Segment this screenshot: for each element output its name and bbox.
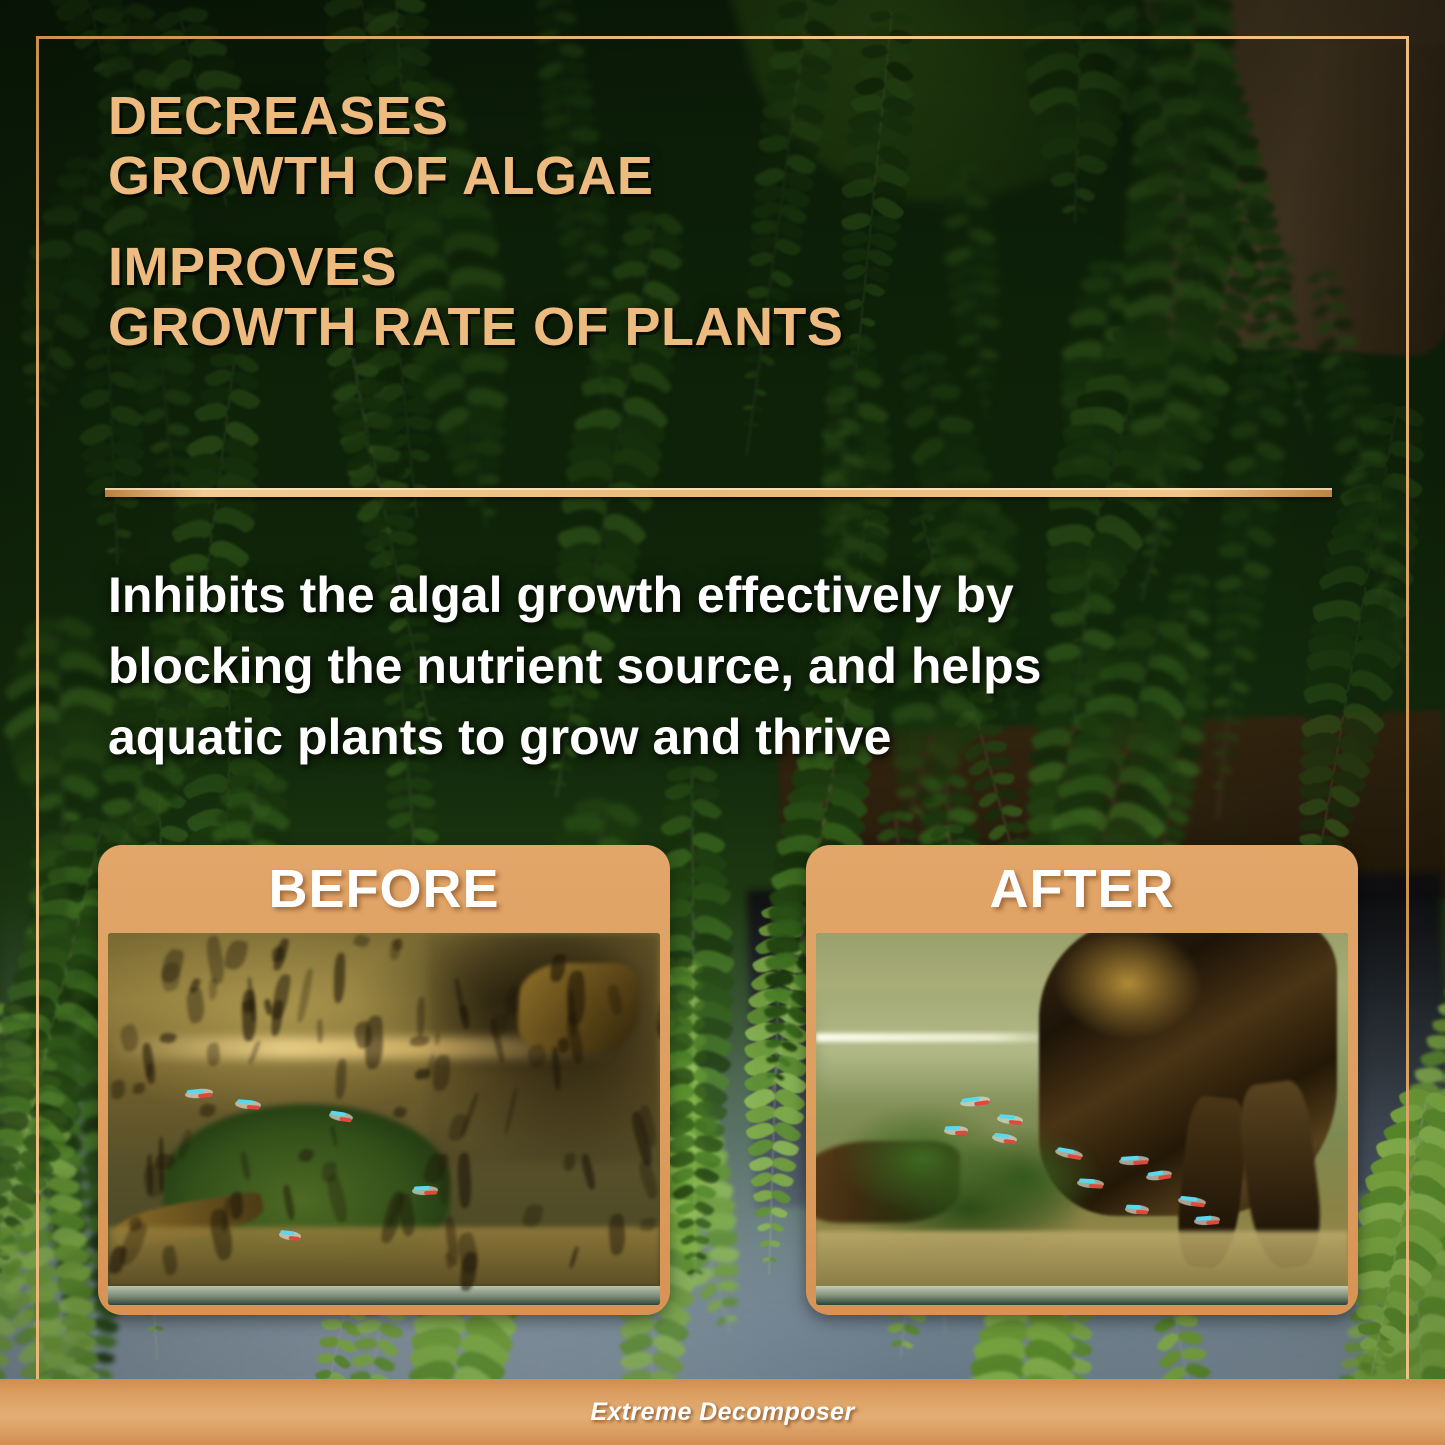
neon-tetra-fish <box>235 1099 262 1110</box>
after-tank-rim <box>816 1286 1348 1305</box>
description-line-1: Inhibits the algal growth effectively by <box>108 560 1288 631</box>
after-sand-substrate <box>816 1231 1348 1287</box>
algae-streak <box>416 997 425 1038</box>
before-card-title: BEFORE <box>108 845 660 933</box>
after-photo-layers <box>816 933 1348 1305</box>
headline-block-plants: IMPROVES GROWTH RATE OF PLANTS <box>108 237 1168 358</box>
neon-tetra-fish <box>185 1088 214 1100</box>
algae-streak <box>147 1063 152 1078</box>
headline-line-2: GROWTH OF ALGAE <box>108 146 1168 206</box>
algae-streak <box>272 937 289 971</box>
before-photo-layers <box>108 933 660 1305</box>
algae-streak <box>564 1153 575 1172</box>
algae-streak <box>334 953 345 1003</box>
algae-streak <box>392 1105 407 1119</box>
after-card: AFTER <box>806 845 1358 1315</box>
fish-red-stripe <box>289 1235 300 1240</box>
fish-red-stripe <box>1206 1219 1219 1224</box>
before-photo <box>108 933 660 1305</box>
headline-line-1: DECREASES <box>108 86 1168 146</box>
poster-content: DECREASES GROWTH OF ALGAE IMPROVES GROWT… <box>0 0 1445 1445</box>
headline-group: DECREASES GROWTH OF ALGAE IMPROVES GROWT… <box>108 86 1168 358</box>
before-tank-rim <box>108 1286 660 1305</box>
neon-tetra-fish <box>1193 1215 1220 1226</box>
after-light-reflection <box>816 1033 1071 1042</box>
algae-streak <box>636 1159 660 1200</box>
before-after-comparison: BEFORE AFTER <box>0 845 1445 1325</box>
product-marketing-poster: DECREASES GROWTH OF ALGAE IMPROVES GROWT… <box>0 0 1445 1445</box>
algae-streak <box>390 940 400 960</box>
before-card: BEFORE <box>98 845 670 1315</box>
neon-tetra-fish <box>1124 1204 1148 1214</box>
headline-block-algae: DECREASES GROWTH OF ALGAE <box>108 86 1168 207</box>
footer-bar: Extreme Decomposer <box>0 1379 1445 1445</box>
fish-neon-stripe <box>281 1230 295 1235</box>
algae-streak <box>199 1102 217 1118</box>
algae-streak <box>522 1203 544 1229</box>
neon-tetra-fish <box>411 1185 437 1195</box>
algae-streak <box>133 1082 145 1093</box>
algae-streak <box>185 987 207 1024</box>
algae-streak <box>160 948 185 985</box>
fish-red-stripe <box>198 1093 212 1099</box>
description-text: Inhibits the algal growth effectively by… <box>108 560 1288 773</box>
fish-red-stripe <box>1135 1209 1147 1214</box>
product-name-label: Extreme Decomposer <box>590 1398 854 1427</box>
algae-streak <box>353 933 371 948</box>
algae-streak <box>296 968 314 1024</box>
after-card-title: AFTER <box>816 845 1348 933</box>
algae-streak <box>335 1059 346 1099</box>
gold-divider-line <box>105 488 1332 497</box>
fish-neon-stripe <box>1078 1178 1095 1183</box>
algae-streak <box>110 1079 126 1099</box>
description-line-2: blocking the nutrient source, and helps <box>108 631 1288 702</box>
fish-neon-stripe <box>1126 1204 1141 1209</box>
headline-line-3: IMPROVES <box>108 237 1168 297</box>
headline-line-4: GROWTH RATE OF PLANTS <box>108 297 1168 357</box>
algae-streak <box>223 938 249 972</box>
after-photo <box>816 933 1348 1305</box>
description-line-3: aquatic plants to grow and thrive <box>108 702 1288 773</box>
fish-red-stripe <box>424 1190 437 1195</box>
fish-red-stripe <box>1089 1183 1103 1188</box>
